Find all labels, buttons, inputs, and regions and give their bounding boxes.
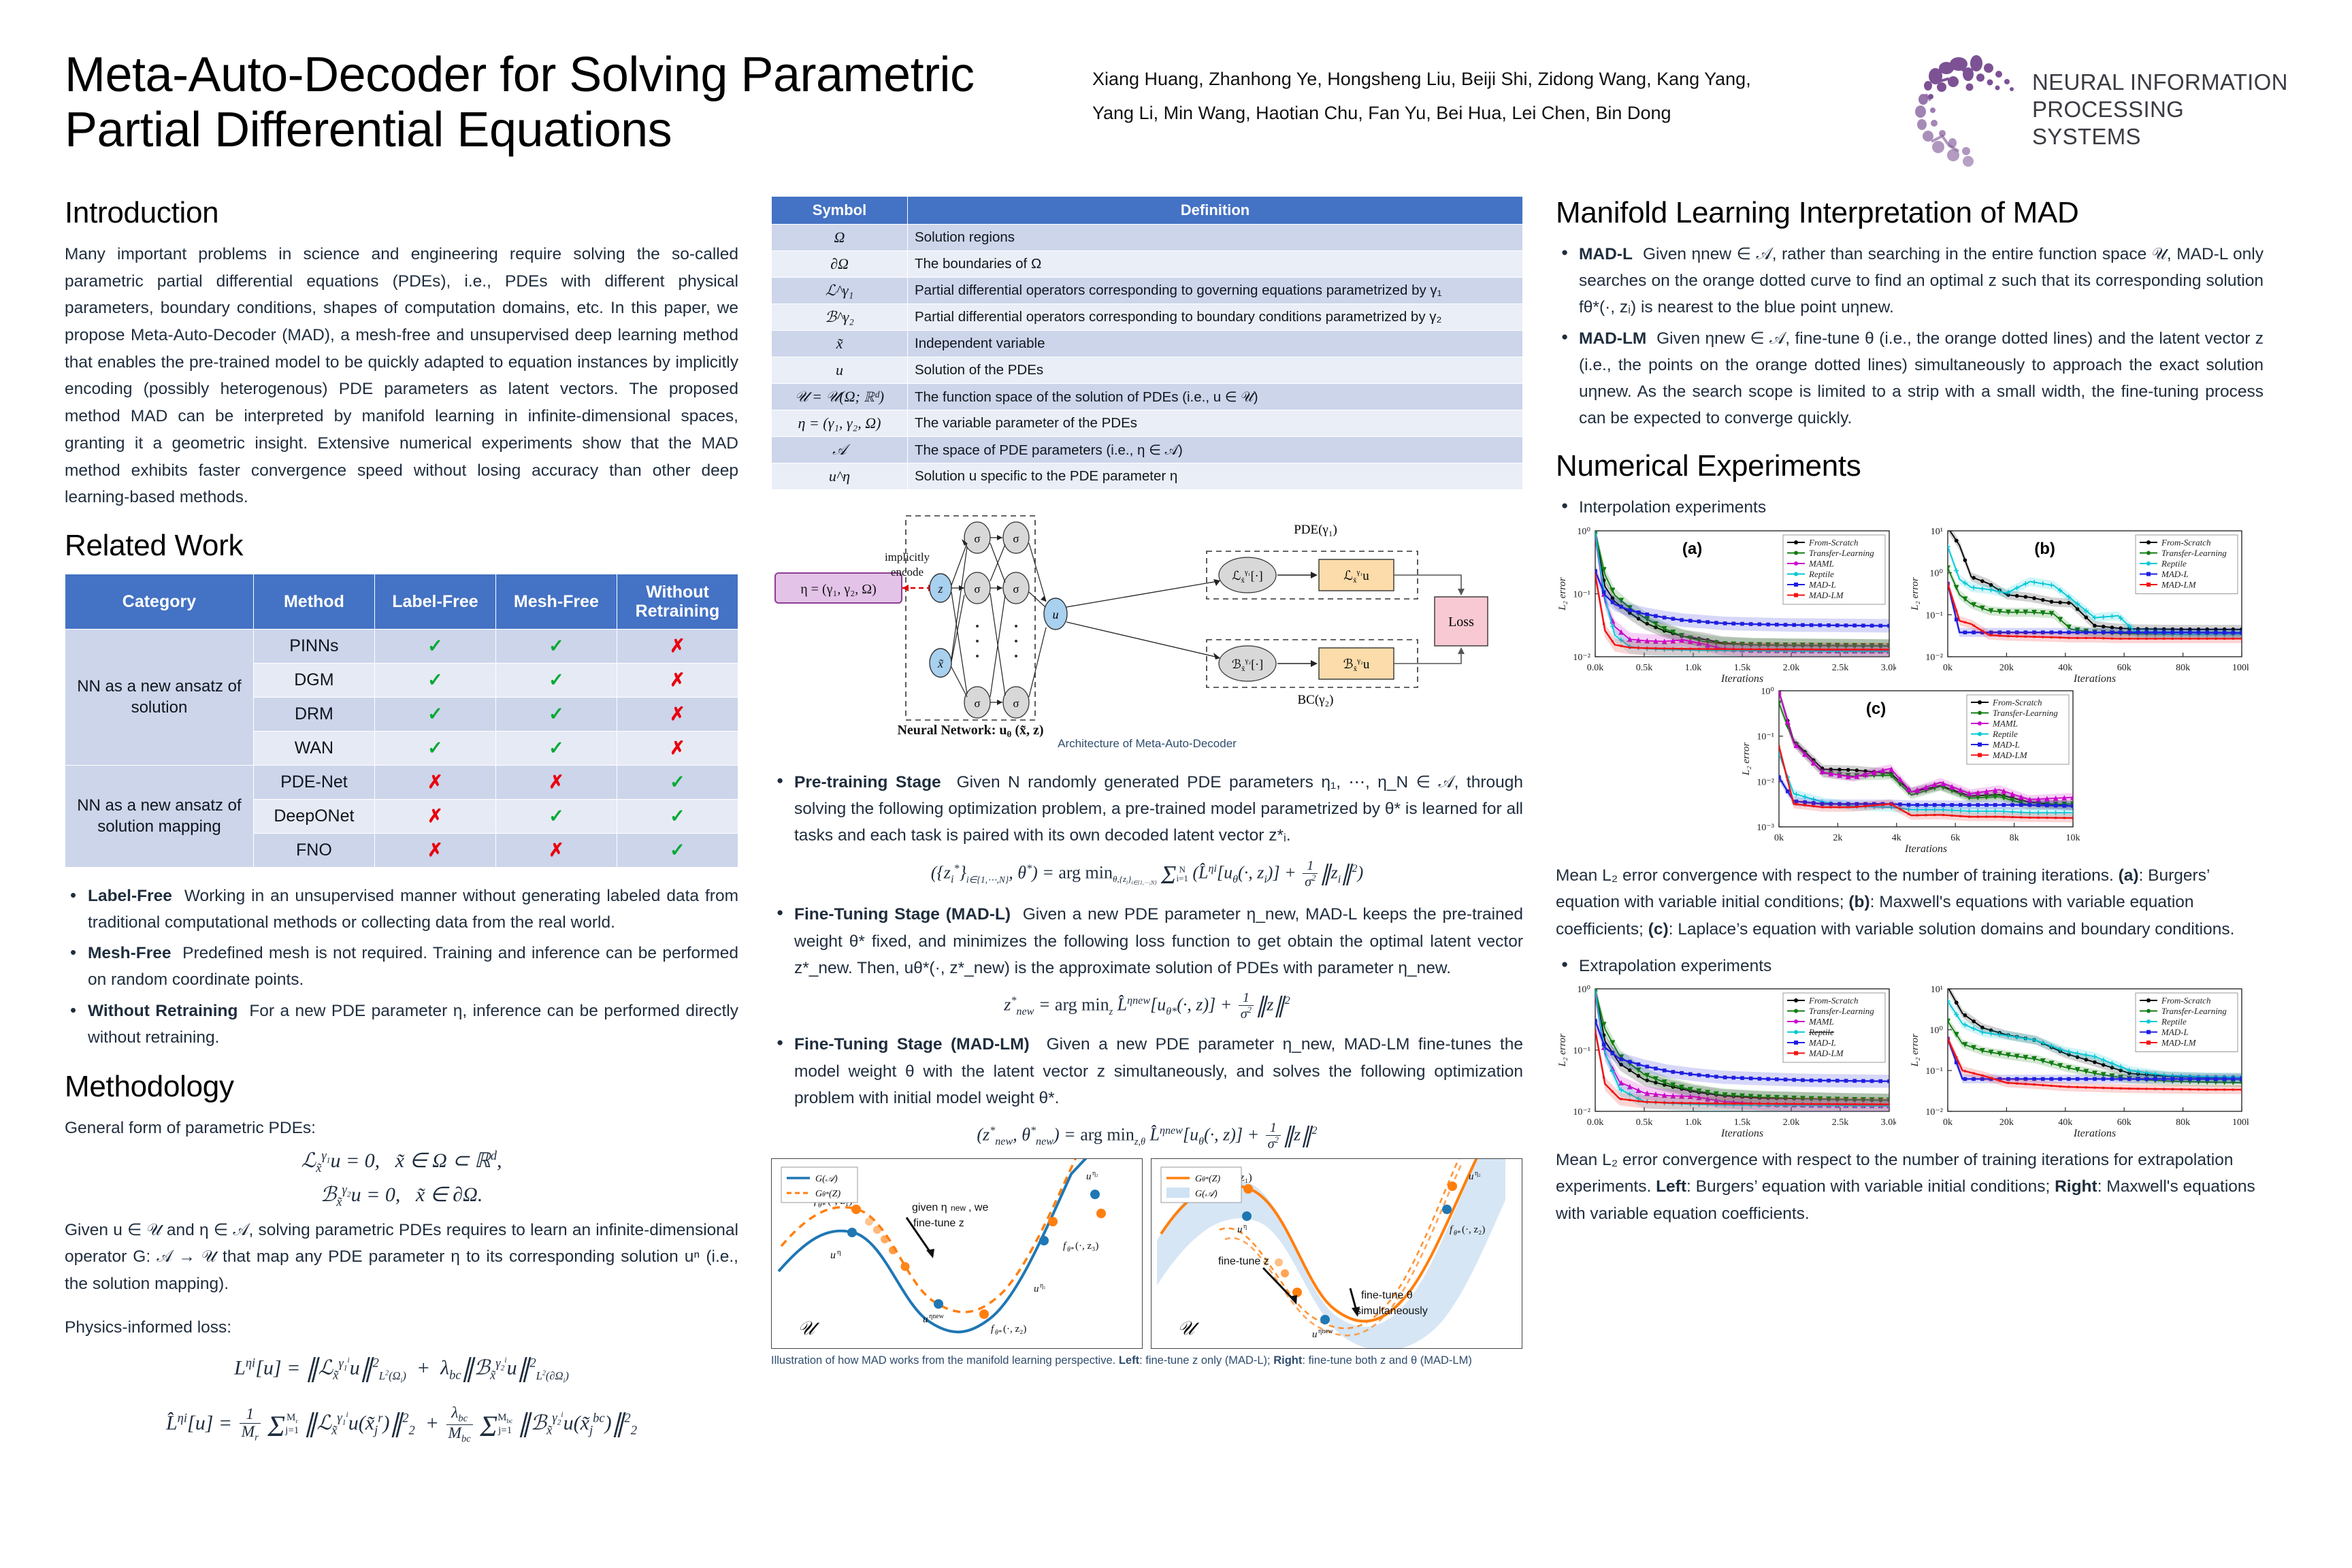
caption-part-1: Mean L₂ error convergence with respect t… xyxy=(1556,866,2119,885)
svg-text:PDE(γ₁): PDE(γ₁) xyxy=(1294,523,1337,537)
legend-label: MAML xyxy=(1808,558,1834,568)
caption-part-2: : Burgers’ equation with variable initia… xyxy=(1686,1177,2055,1196)
legend-label: Reptile xyxy=(2161,1016,2187,1026)
svg-text:(b): (b) xyxy=(2034,540,2055,558)
svg-text:L₂ error: L₂ error xyxy=(1741,742,1752,776)
svg-text:10⁻²: 10⁻² xyxy=(1757,777,1774,787)
extrapolation-charts-row: 10⁰10⁻¹10⁻²0.0k0.5k1.0k1.5k2.0k2.5k3.0kI… xyxy=(1556,983,2264,1140)
col-header-definition: Definition xyxy=(908,197,1523,225)
svg-text:2.0k: 2.0k xyxy=(1783,1117,1800,1128)
col-header-label-free: Label-Free xyxy=(374,574,495,629)
legend-label: MAD-L xyxy=(2161,569,2189,579)
list-item: MAD-L Given ηnew ∈ 𝒜, rather than search… xyxy=(1556,241,2264,321)
bullet-lead: Without Retraining xyxy=(88,1002,238,1020)
svg-text:1.5k: 1.5k xyxy=(1734,663,1751,673)
svg-text:ηnew: ηnew xyxy=(929,1313,945,1320)
svg-text:x̃: x̃ xyxy=(937,657,944,670)
svg-text:η₁: η₁ xyxy=(1040,1282,1046,1290)
svg-text:(·, z₃): (·, z₃) xyxy=(1075,1241,1098,1252)
legend-label: Reptile xyxy=(1808,1027,1834,1037)
cell-definition: Solution u specific to the PDE parameter… xyxy=(908,463,1523,490)
cell-definition: The function space of the solution of PD… xyxy=(908,384,1523,410)
svg-text:ℒx̃γ₁u: ℒx̃γ₁u xyxy=(1343,568,1369,585)
cell-definition: Partial differential operators correspon… xyxy=(908,304,1523,331)
caption-bold-right: Right xyxy=(1273,1354,1302,1367)
table-row: ∂ΩThe boundaries of Ω xyxy=(772,251,1523,278)
svg-text:Iterations: Iterations xyxy=(2073,673,2116,685)
caption-label-a: (a) xyxy=(2119,866,2139,885)
list-item: Extrapolation experiments xyxy=(1556,953,2264,979)
svg-text:60k: 60k xyxy=(2117,1117,2131,1128)
cell-method: DGM xyxy=(253,663,374,697)
cross-icon: ✗ xyxy=(427,772,443,792)
equation-pretraining: ({zi*}i∈{1,⋯,N}, θ*) = arg minθ,{zi}i∈{1… xyxy=(771,859,1523,891)
svg-text:Iterations: Iterations xyxy=(1720,1128,1763,1139)
svg-text:fine-tune z: fine-tune z xyxy=(1218,1256,1269,1267)
legend-label: MAD-LM xyxy=(1808,1048,1844,1058)
list-item: Fine-Tuning Stage (MAD-L) Given a new PD… xyxy=(771,901,1523,981)
svg-text:10⁻¹: 10⁻¹ xyxy=(1925,1066,1943,1077)
check-icon: ✓ xyxy=(549,636,564,656)
cell-definition: Solution regions xyxy=(908,225,1523,251)
check-icon: ✓ xyxy=(549,704,564,724)
caption-label-c: (c) xyxy=(1648,920,1669,938)
table-row: ℒ^γ₁Partial differential operators corre… xyxy=(772,278,1523,304)
svg-text:10⁻²: 10⁻² xyxy=(1925,1107,1943,1117)
check-icon: ✓ xyxy=(549,738,564,758)
table-row: x̃Independent variable xyxy=(772,331,1523,357)
equation-madl: z*new = arg minz L̂ηnew[uθ*(·, z)] + 1σ2… xyxy=(771,991,1523,1022)
bullet-lead: MAD-LM xyxy=(1579,329,1646,348)
cell-method: WAN xyxy=(253,731,374,765)
equation-general-pde-1: ℒx̃γ1u = 0, x̃ ∈ Ω ⊂ ℝd, xyxy=(65,1149,738,1176)
svg-text:2.5k: 2.5k xyxy=(1832,663,1849,673)
svg-text:u: u xyxy=(1312,1329,1318,1340)
svg-text:σ: σ xyxy=(1013,697,1019,710)
check-icon: ✓ xyxy=(427,670,443,690)
cell-definition: The variable parameter of the PDEs xyxy=(908,410,1523,437)
svg-text:(·, z₂): (·, z₂) xyxy=(1003,1324,1026,1335)
architecture-figure-caption: Architecture of Meta-Auto-Decoder xyxy=(771,737,1523,751)
legend-label: MAML xyxy=(1992,718,2018,728)
table-row: u^ηSolution u specific to the PDE parame… xyxy=(772,463,1523,490)
svg-text:80k: 80k xyxy=(2176,1117,2190,1128)
svg-text:BC(γ₂): BC(γ₂) xyxy=(1297,693,1333,707)
chart-svg-c: 10⁰10⁻¹10⁻²10⁻³0k2k4k6k8k10kIterationsL₂… xyxy=(1739,685,2080,855)
svg-text:ℬx̃γ₂u: ℬx̃γ₂u xyxy=(1343,657,1370,673)
svg-text:η: η xyxy=(1243,1223,1247,1230)
stage-bullets-3: Fine-Tuning Stage (MAD-LM) Given a new P… xyxy=(771,1031,1523,1111)
methodology-intro: General form of parametric PDEs: xyxy=(65,1115,738,1142)
column-middle: Symbol Definition ΩSolution regions ∂ΩTh… xyxy=(771,196,1523,1452)
svg-text:10⁰: 10⁰ xyxy=(1577,527,1590,537)
cell-category-group-2: NN as a new ansatz of solution mapping xyxy=(65,765,254,867)
bullet-text: Given ηnew ∈ 𝒜, fine-tune θ (i.e., the o… xyxy=(1579,329,2264,428)
cell-symbol: η = (γ₁, γ₂, Ω) xyxy=(772,410,908,437)
svg-text:L₂ error: L₂ error xyxy=(1910,1033,1921,1067)
legend-label: From-Scratch xyxy=(1808,537,1858,547)
svg-text:1.0k: 1.0k xyxy=(1685,663,1702,673)
page-title: Meta-Auto-Decoder for Solving Parametric… xyxy=(65,48,1072,157)
svg-text:z: z xyxy=(937,582,943,595)
methodology-heading: Methodology xyxy=(65,1070,738,1104)
legend-label: From-Scratch xyxy=(2161,537,2210,547)
authors-block: Xiang Huang, Zhanhong Ye, Hongsheng Liu,… xyxy=(1072,48,1910,131)
cell-method: FNO xyxy=(253,833,374,867)
svg-text:10¹: 10¹ xyxy=(1931,527,1943,537)
legend-label: Transfer-Learning xyxy=(2161,1006,2227,1016)
svg-text:u: u xyxy=(1034,1284,1039,1294)
bullet-text: Given ηnew ∈ 𝒜, rather than searching in… xyxy=(1579,245,2264,316)
svg-text:10⁻¹: 10⁻¹ xyxy=(1925,610,1943,621)
cell-symbol: ℒ^γ₁ xyxy=(772,278,908,304)
caption-label-b: (b) xyxy=(1848,893,1869,911)
stage-bullets: Pre-training Stage Given N randomly gene… xyxy=(771,769,1523,849)
cell-definition: The space of PDE parameters (i.e., η ∈ 𝒜… xyxy=(908,437,1523,463)
svg-text:Gθ*(Z): Gθ*(Z) xyxy=(815,1189,840,1199)
table-row: η = (γ₁, γ₂, Ω)The variable parameter of… xyxy=(772,410,1523,437)
list-item: Pre-training Stage Given N randomly gene… xyxy=(771,769,1523,849)
check-icon: ✓ xyxy=(427,636,443,656)
check-icon: ✓ xyxy=(549,806,564,826)
cross-icon: ✗ xyxy=(670,704,685,724)
cell-definition: The boundaries of Ω xyxy=(908,251,1523,278)
svg-text:10⁻¹: 10⁻¹ xyxy=(1573,589,1590,600)
cell-definition: Independent variable xyxy=(908,331,1523,357)
title-block: Meta-Auto-Decoder for Solving Parametric… xyxy=(65,48,1072,157)
legend-label: Transfer-Learning xyxy=(1809,548,1874,558)
related-work-table: Category Method Label-Free Mesh-Free Wit… xyxy=(65,574,738,868)
svg-text:10⁰: 10⁰ xyxy=(1929,1026,1943,1036)
svg-text:1.0k: 1.0k xyxy=(1685,1117,1702,1128)
svg-text:0.5k: 0.5k xyxy=(1636,1117,1653,1128)
svg-text:(c): (c) xyxy=(1866,700,1886,718)
col-header-without-retraining: Without Retraining xyxy=(617,574,738,629)
extrapolation-bullet: Extrapolation experiments xyxy=(1556,953,2264,979)
svg-text:0.0k: 0.0k xyxy=(1587,1117,1604,1128)
svg-text:simultaneously: simultaneously xyxy=(1356,1305,1428,1317)
architecture-diagram: η = (γ₁, γ₂, Ω) implicitly encode z x̃ σ… xyxy=(771,505,1523,740)
introduction-heading: Introduction xyxy=(65,196,738,230)
chart-svg-b: 10¹10⁰10⁻¹10⁻²0k20k40k60k80k100kIteratio… xyxy=(1908,525,2249,685)
list-item: Without Retraining For a new PDE paramet… xyxy=(65,998,738,1051)
cross-icon: ✗ xyxy=(670,738,685,758)
svg-text:0k: 0k xyxy=(1943,1117,1953,1128)
bullet-lead: Label-Free xyxy=(88,887,172,905)
cell-symbol: ℬ^γ₂ xyxy=(772,304,908,331)
bullet-lead: Mesh-Free xyxy=(88,944,171,962)
svg-text:0k: 0k xyxy=(1943,663,1953,673)
col-header-symbol: Symbol xyxy=(772,197,908,225)
svg-text:Gθ*(Z): Gθ*(Z) xyxy=(1195,1174,1220,1184)
svg-text:4k: 4k xyxy=(1892,833,1901,843)
cell-symbol: u xyxy=(772,357,908,384)
svg-text:given η: given η xyxy=(912,1202,947,1213)
bullet-text: Predefined mesh is not required. Trainin… xyxy=(88,944,738,989)
column-right: Manifold Learning Interpretation of MAD … xyxy=(1556,196,2264,1452)
equation-physics-loss: Lηi[u] = ∥ℒx̃γ1iu∥2L2(Ωi) + λbc∥ℬx̃γ2iu∥… xyxy=(65,1353,738,1384)
check-icon: ✓ xyxy=(670,840,685,860)
svg-text:L₂ error: L₂ error xyxy=(1557,1033,1568,1067)
cell-method: DRM xyxy=(253,697,374,731)
svg-text:u: u xyxy=(923,1314,928,1325)
table-row: 𝒜The space of PDE parameters (i.e., η ∈ … xyxy=(772,437,1523,463)
svg-text:10⁰: 10⁰ xyxy=(1577,985,1590,995)
svg-text:implicitly: implicitly xyxy=(885,551,930,563)
svg-text:σ: σ xyxy=(1013,532,1019,545)
chart-svg-extrap-right: 10¹10⁰10⁻¹10⁻²0k20k40k60k80k100kIteratio… xyxy=(1908,983,2249,1140)
list-item: Label-Free Working in an unsupervised ma… xyxy=(65,883,738,936)
cell-method: PINNs xyxy=(253,629,374,663)
svg-text:η₂: η₂ xyxy=(1475,1170,1481,1177)
interpolation-bullet: Interpolation experiments xyxy=(1556,494,2264,521)
legend-label: MAD-L xyxy=(1992,739,2020,749)
svg-text:η = (γ₁, γ₂, Ω): η = (γ₁, γ₂, Ω) xyxy=(800,582,877,597)
cross-icon: ✗ xyxy=(670,670,685,690)
chart-b: 10¹10⁰10⁻¹10⁻²0k20k40k60k80k100kIteratio… xyxy=(1908,525,2249,685)
cell-method: DeepONet xyxy=(253,799,374,833)
svg-text:fine-tune z: fine-tune z xyxy=(913,1218,964,1229)
svg-text:10⁻¹: 10⁻¹ xyxy=(1757,732,1774,742)
cell-definition: Solution of the PDEs xyxy=(908,357,1523,384)
svg-text:Loss: Loss xyxy=(1448,615,1474,630)
caption-label-left: Left xyxy=(1656,1177,1686,1196)
svg-text:2.0k: 2.0k xyxy=(1783,663,1800,673)
stage-lead: Fine-Tuning Stage (MAD-LM) xyxy=(794,1035,1030,1053)
cross-icon: ✗ xyxy=(670,636,685,656)
legend-label: MAD-L xyxy=(1808,1037,1836,1047)
check-icon: ✓ xyxy=(427,704,443,724)
bullet-text: Interpolation experiments xyxy=(1579,498,1766,517)
chart-extrapolation-right: 10¹10⁰10⁻¹10⁻²0k20k40k60k80k100kIteratio… xyxy=(1908,983,2249,1140)
svg-text:η₂: η₂ xyxy=(1092,1170,1098,1177)
svg-text:u: u xyxy=(1086,1171,1092,1182)
legend-label: MAML xyxy=(1808,1016,1834,1026)
bullet-lead: MAD-L xyxy=(1579,245,1633,263)
stage-lead: Fine-Tuning Stage (MAD-L) xyxy=(794,905,1011,924)
symbol-definition-table: Symbol Definition ΩSolution regions ∂ΩTh… xyxy=(771,196,1523,490)
poster-header: Meta-Auto-Decoder for Solving Parametric… xyxy=(65,48,2291,184)
legend-label: From-Scratch xyxy=(2161,995,2210,1005)
svg-text:10⁻³: 10⁻³ xyxy=(1757,823,1774,833)
list-item: Interpolation experiments xyxy=(1556,494,2264,521)
svg-text:10¹: 10¹ xyxy=(1931,985,1943,995)
legend-label: MAD-LM xyxy=(1808,590,1844,600)
svg-text:θ*: θ* xyxy=(1067,1246,1074,1254)
col-header-mesh-free: Mesh-Free xyxy=(495,574,617,629)
neurips-logo: NEURAL INFORMATION PROCESSING SYSTEMS xyxy=(1910,48,2291,167)
legend-label: MAD-LM xyxy=(2161,579,2197,589)
cross-icon: ✗ xyxy=(427,840,443,860)
legend-label: Reptile xyxy=(2161,558,2187,568)
bullet-text: Extrapolation experiments xyxy=(1579,957,1771,975)
legend-label: From-Scratch xyxy=(1992,697,2042,707)
check-icon: ✓ xyxy=(549,670,564,690)
cross-icon: ✗ xyxy=(427,806,443,826)
manifold-section-heading: Manifold Learning Interpretation of MAD xyxy=(1556,196,2264,230)
authors-line-1: Xiang Huang, Zhanhong Ye, Hongsheng Liu,… xyxy=(1092,63,1910,97)
column-left: Introduction Many important problems in … xyxy=(65,196,738,1452)
neurips-logo-line-1: NEURAL INFORMATION xyxy=(2032,69,2291,96)
svg-text:2.5k: 2.5k xyxy=(1832,1117,1849,1128)
svg-text:𝒰: 𝒰 xyxy=(798,1318,820,1339)
numerical-heading: Numerical Experiments xyxy=(1556,449,2264,483)
neurips-logo-text: NEURAL INFORMATION PROCESSING SYSTEMS xyxy=(2032,69,2291,151)
bullet-text: Working in an unsupervised manner withou… xyxy=(88,887,738,932)
cell-method: PDE-Net xyxy=(253,765,374,799)
svg-text:(·, z₂): (·, z₂) xyxy=(1462,1224,1485,1235)
svg-text:θ*: θ* xyxy=(995,1329,1002,1337)
svg-text:σ: σ xyxy=(974,532,980,545)
table-header-row: Symbol Definition xyxy=(772,197,1523,225)
svg-text:10⁻¹: 10⁻¹ xyxy=(1573,1046,1590,1056)
col-header-category: Category xyxy=(65,574,254,629)
related-work-bullets: Label-Free Working in an unsupervised ma… xyxy=(65,883,738,1051)
legend-label: From-Scratch xyxy=(1808,995,1858,1005)
svg-text:u: u xyxy=(830,1249,836,1261)
introduction-text: Many important problems in science and e… xyxy=(65,241,738,511)
manifold-figure-left: given η new , we fine-tune z f θ* (·, z₁… xyxy=(771,1158,1143,1349)
legend-label: Transfer-Learning xyxy=(1993,708,2058,718)
equation-madlm: (z*new, θ*new) = arg minz,θ L̂ηnew[uθ(·,… xyxy=(771,1121,1523,1151)
table-row: NN as a new ansatz of solution mapping P… xyxy=(65,765,738,799)
table-row: 𝒰 = 𝒰(Ω; ℝᵈ)The function space of the so… xyxy=(772,384,1523,410)
svg-text:10⁻²: 10⁻² xyxy=(1925,653,1943,663)
svg-text:20k: 20k xyxy=(1999,1117,2014,1128)
svg-text:40k: 40k xyxy=(2058,663,2072,673)
svg-text:100k: 100k xyxy=(2232,1117,2249,1128)
svg-text:𝒰: 𝒰 xyxy=(1177,1318,1200,1339)
svg-text:σ: σ xyxy=(1013,583,1019,595)
caption-part-1: Illustration of how MAD works from the m… xyxy=(771,1354,1119,1367)
cell-symbol: u^η xyxy=(772,463,908,490)
svg-text:Neural Network: uθ (x̃, z): Neural Network: uθ (x̃, z) xyxy=(897,723,1043,739)
svg-text:20k: 20k xyxy=(1999,663,2014,673)
svg-text:u: u xyxy=(1053,608,1059,621)
svg-text:σ: σ xyxy=(974,697,980,710)
svg-text:Iterations: Iterations xyxy=(2073,1128,2116,1139)
equation-general-pde-2: ℬx̃γ2u = 0, x̃ ∈ ∂Ω. xyxy=(65,1183,738,1210)
methodology-paragraph: Given u ∈ 𝒰 and η ∈ 𝒜, solving parametri… xyxy=(65,1217,738,1298)
svg-text:η: η xyxy=(837,1248,841,1256)
svg-text:100k: 100k xyxy=(2232,663,2249,673)
cell-symbol: 𝒜 xyxy=(772,437,908,463)
caption-part-3: : fine-tune both z and θ (MAD-LM) xyxy=(1302,1354,1471,1367)
svg-text:40k: 40k xyxy=(2058,1117,2072,1128)
svg-text:L₂ error: L₂ error xyxy=(1910,577,1921,611)
svg-text:(a): (a) xyxy=(1682,540,1702,558)
legend-label: MAD-L xyxy=(2161,1027,2189,1037)
col-header-method: Method xyxy=(253,574,374,629)
svg-text:10k: 10k xyxy=(2066,833,2080,843)
neurips-swirl-icon xyxy=(1910,52,2025,167)
svg-text:Iterations: Iterations xyxy=(1904,843,1947,855)
legend-label: MAD-LM xyxy=(2161,1037,2197,1047)
caption-bold-left: Left xyxy=(1119,1354,1139,1367)
table-row: NN as a new ansatz of solution PINNs ✓ ✓… xyxy=(65,629,738,663)
caption-part-2: : fine-tune z only (MAD-L); xyxy=(1139,1354,1273,1367)
svg-text:0k: 0k xyxy=(1774,833,1784,843)
chart-a: 10⁰10⁻¹10⁻²0.0k0.5k1.0k1.5k2.0k2.5k3.0kI… xyxy=(1556,525,1896,685)
svg-text:, we: , we xyxy=(968,1202,988,1213)
legend-label: Reptile xyxy=(1808,569,1834,579)
extrapolation-caption: Mean L₂ error convergence with respect t… xyxy=(1556,1147,2264,1228)
chart-extrapolation-left: 10⁰10⁻¹10⁻²0.0k0.5k1.0k1.5k2.0k2.5k3.0kI… xyxy=(1556,983,1896,1140)
chart-svg-a: 10⁰10⁻¹10⁻²0.0k0.5k1.0k1.5k2.0k2.5k3.0kI… xyxy=(1556,525,1896,685)
svg-text:G(𝒜): G(𝒜) xyxy=(815,1174,838,1184)
svg-text:0.5k: 0.5k xyxy=(1636,663,1653,673)
check-icon: ✓ xyxy=(427,738,443,758)
table-row: uSolution of the PDEs xyxy=(772,357,1523,384)
chart-svg-extrap-left: 10⁰10⁻¹10⁻²0.0k0.5k1.0k1.5k2.0k2.5k3.0kI… xyxy=(1556,983,1896,1140)
legend-label: Transfer-Learning xyxy=(2161,548,2227,558)
list-item: MAD-LM Given ηnew ∈ 𝒜, fine-tune θ (i.e.… xyxy=(1556,325,2264,432)
poster-columns: Introduction Many important problems in … xyxy=(65,196,2291,1452)
svg-text:8k: 8k xyxy=(2010,833,2019,843)
manifold-figure-right: fine-tune z fine-tune θ simultaneously f… xyxy=(1151,1158,1522,1349)
svg-text:3.0k: 3.0k xyxy=(1881,1117,1896,1128)
cross-icon: ✗ xyxy=(549,772,564,792)
methodology-loss-label: Physics-informed loss: xyxy=(65,1314,738,1341)
architecture-figure: η = (γ₁, γ₂, Ω) implicitly encode z x̃ σ… xyxy=(771,505,1523,764)
svg-text:fine-tune θ: fine-tune θ xyxy=(1361,1290,1413,1301)
stage-lead: Pre-training Stage xyxy=(794,773,941,791)
cell-symbol: ∂Ω xyxy=(772,251,908,278)
authors-line-2: Yang Li, Min Wang, Haotian Chu, Fan Yu, … xyxy=(1092,97,1910,131)
svg-text:L₂ error: L₂ error xyxy=(1557,577,1568,611)
list-item: Mesh-Free Predefined mesh is not require… xyxy=(65,940,738,993)
cell-symbol: Ω xyxy=(772,225,908,251)
svg-text:2k: 2k xyxy=(1833,833,1842,843)
svg-text:encode: encode xyxy=(891,566,924,578)
svg-text:G(𝒜): G(𝒜) xyxy=(1195,1189,1218,1199)
svg-text:6k: 6k xyxy=(1950,833,1960,843)
legend-label: MAD-LM xyxy=(1992,750,2028,760)
table-header-row: Category Method Label-Free Mesh-Free Wit… xyxy=(65,574,738,629)
svg-text:10⁰: 10⁰ xyxy=(1761,687,1774,697)
manifold-bullets: MAD-L Given ηnew ∈ 𝒜, rather than search… xyxy=(1556,241,2264,431)
cell-definition: Partial differential operators correspon… xyxy=(908,278,1523,304)
chart-c: 10⁰10⁻¹10⁻²10⁻³0k2k4k6k8k10kIterationsL₂… xyxy=(1739,685,2080,855)
check-icon: ✓ xyxy=(670,772,685,792)
stage-bullets-2: Fine-Tuning Stage (MAD-L) Given a new PD… xyxy=(771,901,1523,981)
svg-text:1.5k: 1.5k xyxy=(1734,1117,1751,1128)
svg-text:0.0k: 0.0k xyxy=(1587,663,1604,673)
neurips-logo-line-2: PROCESSING SYSTEMS xyxy=(2032,96,2291,151)
interpolation-charts-row2: 10⁰10⁻¹10⁻²10⁻³0k2k4k6k8k10kIterationsL₂… xyxy=(1556,685,2264,855)
cell-symbol: x̃ xyxy=(772,331,908,357)
svg-text:10⁻²: 10⁻² xyxy=(1573,653,1590,663)
manifold-figure-caption: Illustration of how MAD works from the m… xyxy=(771,1354,1523,1367)
table-row: ℬ^γ₂Partial differential operators corre… xyxy=(772,304,1523,331)
interpolation-caption: Mean L₂ error convergence with respect t… xyxy=(1556,862,2264,943)
svg-text:80k: 80k xyxy=(2176,663,2190,673)
svg-text:u: u xyxy=(1469,1171,1474,1182)
related-work-heading: Related Work xyxy=(65,529,738,563)
list-item: Fine-Tuning Stage (MAD-LM) Given a new P… xyxy=(771,1031,1523,1111)
caption-label-right: Right xyxy=(2055,1177,2097,1196)
table-row: ΩSolution regions xyxy=(772,225,1523,251)
svg-text:θ*: θ* xyxy=(1454,1230,1460,1237)
cell-symbol: 𝒰 = 𝒰(Ω; ℝᵈ) xyxy=(772,384,908,410)
cell-category-group-1: NN as a new ansatz of solution xyxy=(65,629,254,765)
svg-text:60k: 60k xyxy=(2117,663,2131,673)
svg-text:new: new xyxy=(951,1203,966,1213)
svg-text:u: u xyxy=(1237,1224,1243,1235)
check-icon: ✓ xyxy=(670,806,685,826)
svg-text:Iterations: Iterations xyxy=(1720,673,1763,685)
cross-icon: ✗ xyxy=(549,840,564,860)
